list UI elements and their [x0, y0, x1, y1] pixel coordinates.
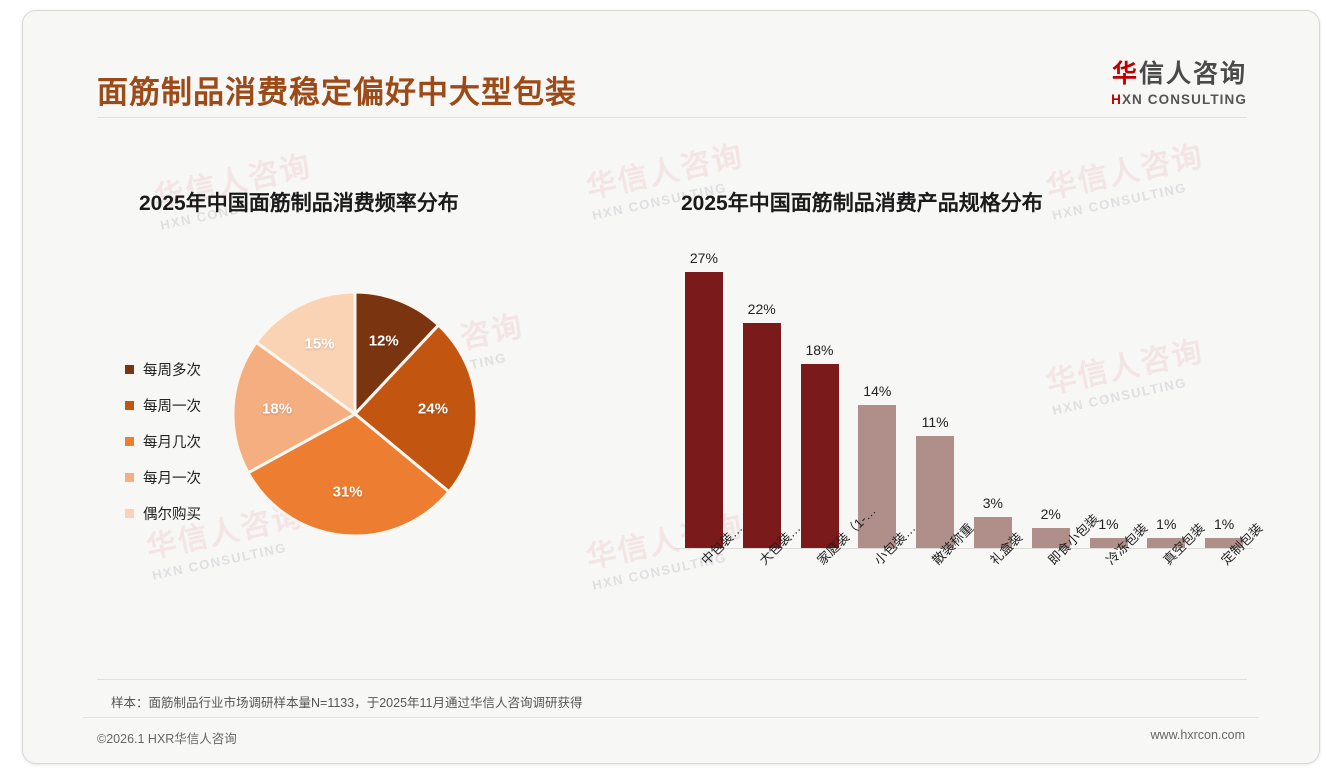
logo-english: HXN CONSULTING	[1111, 92, 1247, 107]
bar-value-label: 1%	[1214, 516, 1234, 532]
bar-rect[interactable]	[801, 364, 839, 548]
bar-value-label: 1%	[1156, 516, 1176, 532]
logo-english-rest: XN CONSULTING	[1122, 92, 1247, 107]
bar-chart-plot: 27%22%18%14%11%3%2%1%1%1%	[675, 239, 1253, 549]
logo-chinese-rest: 信人咨询	[1139, 60, 1247, 88]
slide-canvas: 华信人咨询 HXN CONSULTING 华信人咨询 HXN CONSULTIN…	[22, 10, 1320, 764]
bar-rect[interactable]	[685, 272, 723, 548]
bar-rect[interactable]	[916, 436, 954, 548]
bar-chart-x-axis: 中包装…大包装…家庭装（1-…小包装…散装称重礼盒装即食小包装冷冻包装真空包装定…	[675, 549, 1253, 639]
pie-legend-item[interactable]: 每月一次	[125, 459, 201, 495]
pie-slice-value: 31%	[333, 483, 363, 500]
legend-color-swatch	[125, 365, 134, 374]
legend-color-swatch	[125, 473, 134, 482]
bar-column[interactable]: 27%	[685, 250, 723, 548]
sample-note: 样本：面筋制品行业市场调研样本量N=1133，于2025年11月通过华信人咨询调…	[111, 692, 583, 711]
pie-slice-value: 24%	[418, 401, 448, 418]
legend-label: 每月一次	[143, 467, 201, 488]
pie-legend-item[interactable]: 每周多次	[125, 351, 201, 387]
legend-color-swatch	[125, 509, 134, 518]
legend-label: 每月几次	[143, 431, 201, 452]
bar-value-label: 1%	[1098, 516, 1118, 532]
legend-label: 偶尔购买	[143, 503, 201, 524]
title-divider	[97, 117, 1247, 118]
slide-header: 面筋制品消费稳定偏好中大型包装 华信人咨询 HXN CONSULTING	[23, 11, 1319, 119]
bar-value-label: 22%	[748, 301, 776, 317]
pie-legend-item[interactable]: 每月几次	[125, 423, 201, 459]
pie-slice-value: 18%	[262, 401, 292, 418]
logo-english-red: H	[1111, 92, 1122, 107]
legend-color-swatch	[125, 401, 134, 410]
legend-color-swatch	[125, 437, 134, 446]
legend-label: 每周多次	[143, 359, 201, 380]
pie-legend: 每周多次每周一次每月几次每月一次偶尔购买	[125, 351, 201, 531]
logo-chinese-red: 华	[1112, 60, 1139, 88]
note-divider	[97, 679, 1247, 680]
footer-divider	[83, 717, 1259, 718]
bar-column[interactable]: 11%	[916, 414, 954, 548]
bar-column[interactable]: 22%	[743, 301, 781, 548]
pie-slice-value: 15%	[305, 336, 335, 353]
bar-value-label: 3%	[983, 495, 1003, 511]
bar-rect[interactable]	[743, 323, 781, 548]
pie-chart-title: 2025年中国面筋制品消费频率分布	[139, 187, 459, 217]
bar-value-label: 18%	[805, 342, 833, 358]
bar-value-label: 11%	[922, 414, 949, 430]
pie-chart: 12%24%31%18%15%	[225, 279, 485, 549]
bar-column[interactable]: 18%	[801, 342, 839, 548]
pie-legend-item[interactable]: 每周一次	[125, 387, 201, 423]
bar-chart-title: 2025年中国面筋制品消费产品规格分布	[681, 187, 1043, 217]
pie-slice-value: 12%	[369, 333, 399, 350]
bar-value-label: 2%	[1041, 506, 1061, 522]
page-title: 面筋制品消费稳定偏好中大型包装	[97, 67, 577, 112]
legend-label: 每周一次	[143, 395, 201, 416]
website-link[interactable]: www.hxrcon.com	[1151, 728, 1245, 742]
bar-chart-panel: 2025年中国面筋制品消费产品规格分布 27%22%18%14%11%3%2%1…	[663, 179, 1253, 609]
logo-chinese: 华信人咨询	[1111, 61, 1247, 89]
pie-chart-panel: 2025年中国面筋制品消费频率分布 每周多次每周一次每月几次每月一次偶尔购买 1…	[97, 179, 657, 609]
pie-legend-item[interactable]: 偶尔购买	[125, 495, 201, 531]
bar-value-label: 27%	[690, 250, 718, 266]
company-logo: 华信人咨询 HXN CONSULTING	[1111, 61, 1247, 107]
bar-value-label: 14%	[863, 383, 891, 399]
copyright-text: ©2026.1 HXR华信人咨询	[97, 728, 237, 747]
